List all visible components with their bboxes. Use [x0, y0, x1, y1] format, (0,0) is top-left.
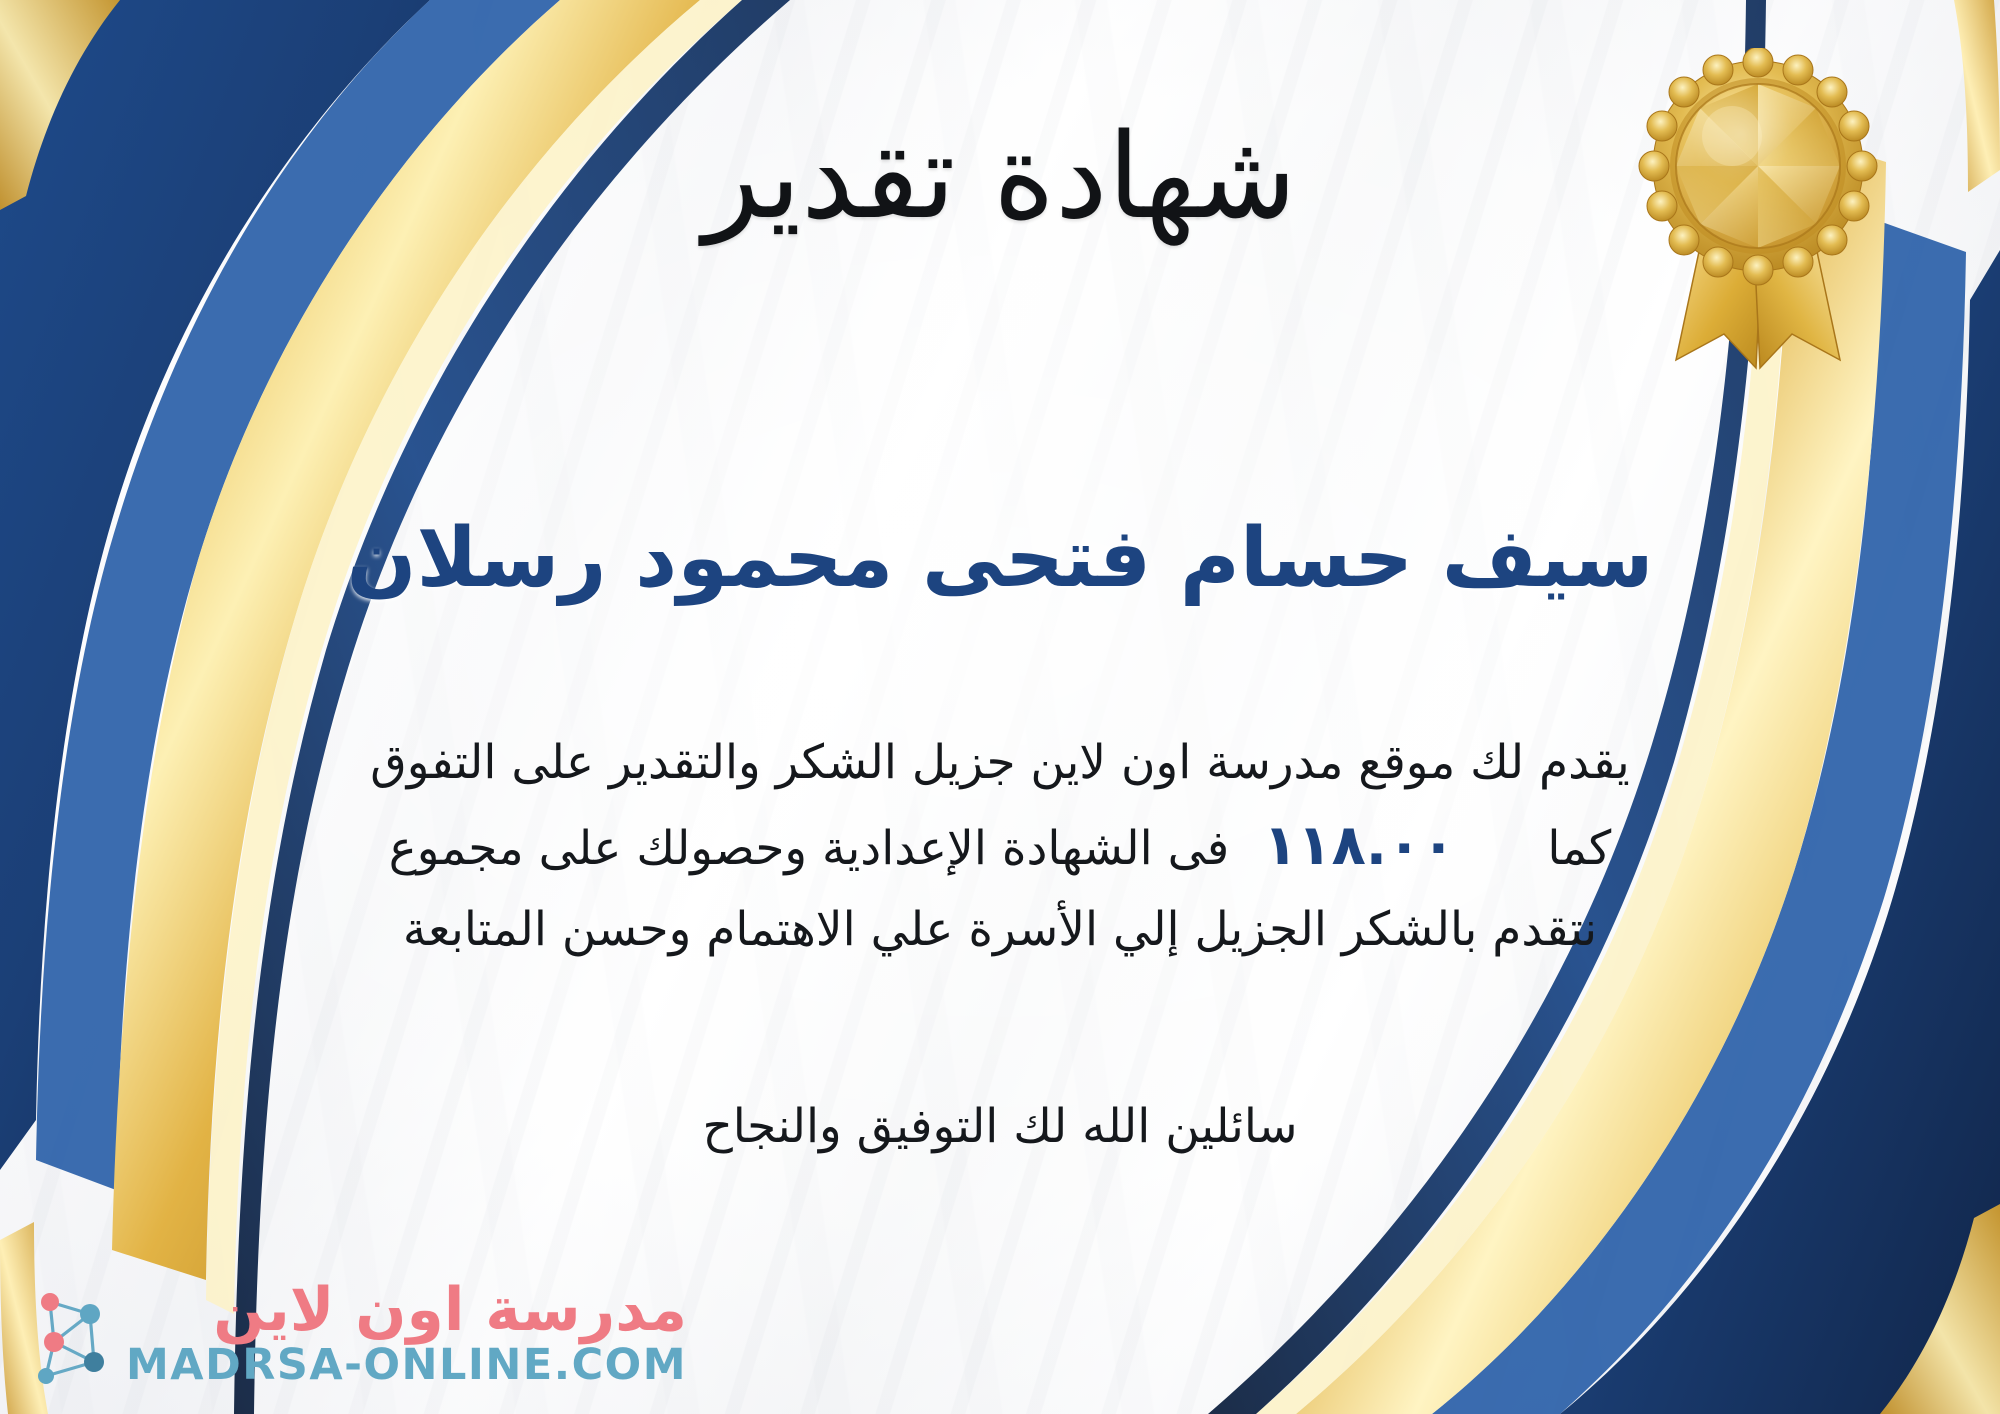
body-line-1: يقدم لك موقع مدرسة اون لاين جزيل الشكر و…: [55, 725, 1945, 801]
certificate-card: شهادة تقدير سيف حسام فتحى محمود رسلان يق…: [0, 0, 2000, 1414]
recipient-name: سيف حسام فتحى محمود رسلان: [120, 510, 1880, 608]
score-value: ١١٨.٠٠: [1229, 813, 1489, 878]
logo-website-url: MADRSA-ONLINE.COM: [126, 1343, 687, 1388]
certificate-body: يقدم لك موقع مدرسة اون لاين جزيل الشكر و…: [55, 725, 1945, 968]
gold-medal-icon: [1638, 48, 1878, 378]
body-line-3: نتقدم بالشكر الجزيل إلي الأسرة علي الاهت…: [55, 892, 1945, 968]
brand-logo[interactable]: مدرسة اون لاين MADRSA-ONLINE.COM: [24, 1279, 687, 1388]
logo-arabic-name: مدرسة اون لاين: [213, 1279, 687, 1343]
body-line-2: كما١١٨.٠٠فى الشهادة الإعدادية وحصولك على…: [55, 801, 1945, 892]
network-nodes-logo-mark: [24, 1280, 116, 1388]
body-line-2-prefix: فى الشهادة الإعدادية وحصولك على مجموع: [389, 821, 1230, 876]
body-line-2-suffix: كما: [1547, 821, 1611, 876]
closing-wish: سائلين الله لك التوفيق والنجاح: [0, 1092, 2000, 1163]
logo-text-block: مدرسة اون لاين MADRSA-ONLINE.COM: [126, 1279, 687, 1388]
